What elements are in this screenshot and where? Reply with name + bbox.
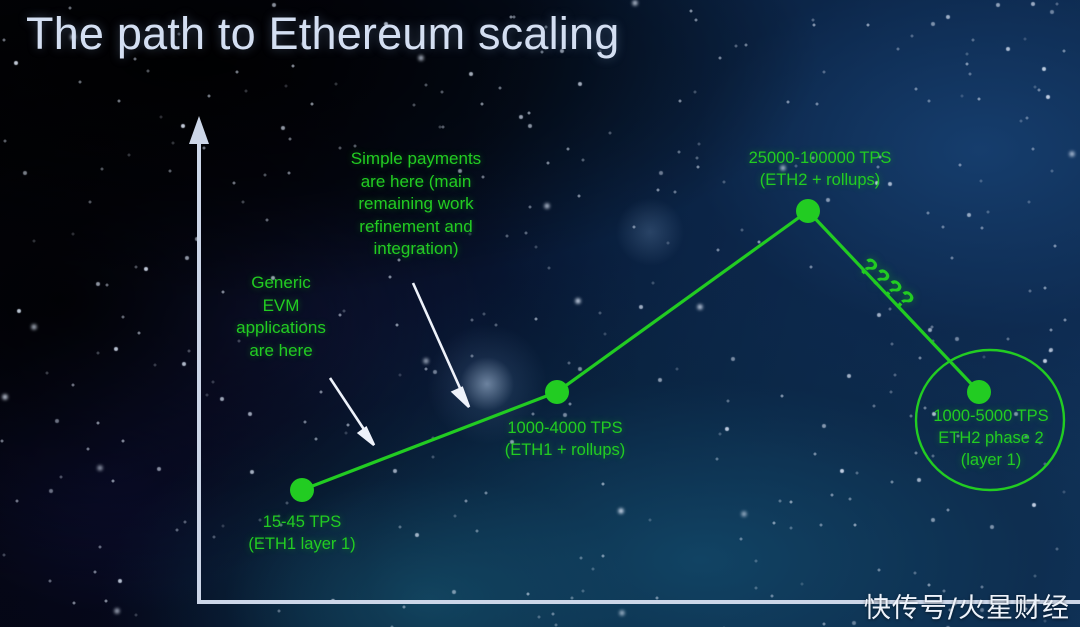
slide-canvas: The path to Ethereum scaling (0, 0, 1080, 627)
data-label-eth2-phase2: 1000-5000 TPS ETH2 phase 2 (layer 1) (908, 406, 1074, 472)
watermark: 快传号/火星财经 (864, 586, 1070, 625)
y-axis (189, 116, 209, 604)
data-label-eth1-layer1: 15-45 TPS (ETH1 layer 1) (222, 512, 382, 556)
annotation-simple-payments: Simple payments are here (main remaining… (326, 148, 506, 261)
data-label-eth1-rollups: 1000-4000 TPS (ETH1 + rollups) (476, 418, 654, 462)
data-point-eth1-rollups[interactable] (545, 380, 569, 404)
arrow-generic-evm (330, 378, 374, 445)
annotation-generic-evm: Generic EVM applications are here (210, 272, 352, 362)
arrow-simple-payments (413, 283, 469, 407)
data-point-eth2-rollups[interactable] (796, 199, 820, 223)
data-point-eth1-layer1[interactable] (290, 478, 314, 502)
data-point-eth2-phase2[interactable] (967, 380, 991, 404)
chart-graphic (0, 0, 1080, 627)
data-label-eth2-rollups: 25000-100000 TPS (ETH2 + rollups) (714, 148, 926, 192)
